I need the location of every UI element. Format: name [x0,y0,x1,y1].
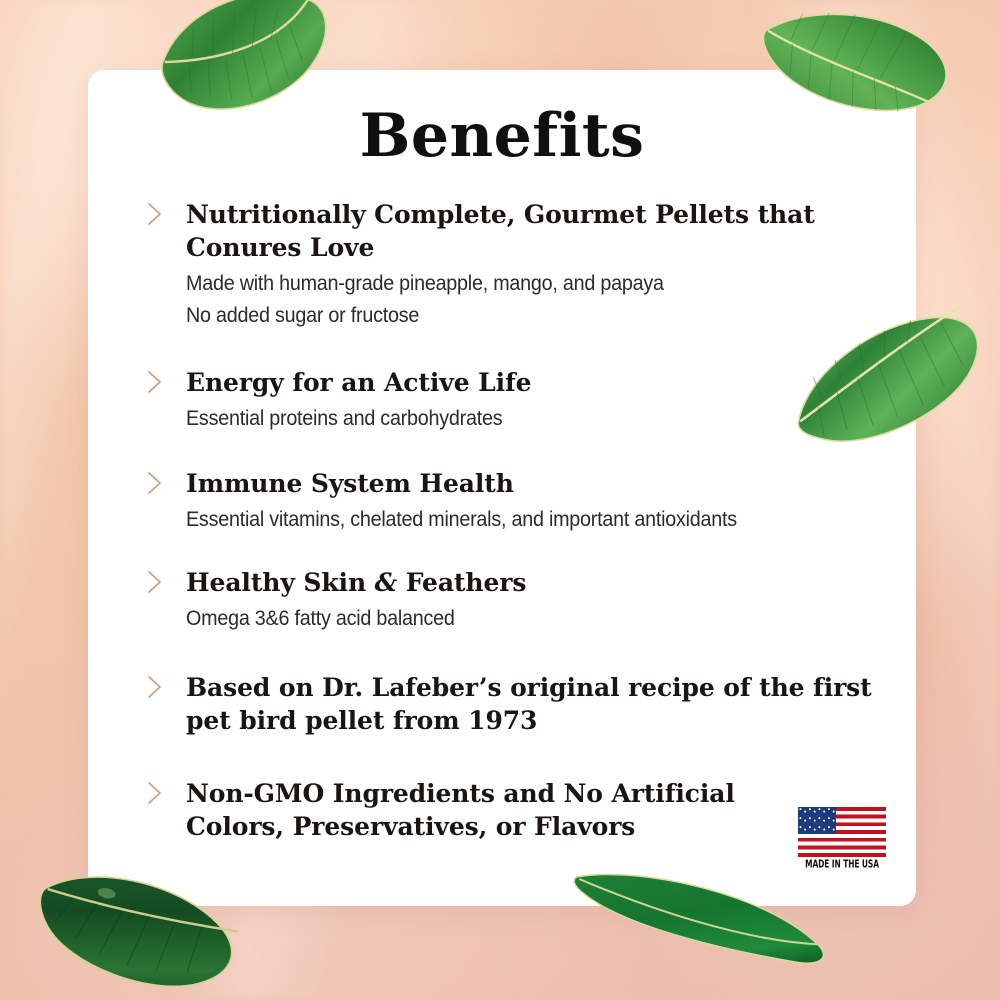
benefit-subtext: No added sugar or fructose [186,300,855,332]
leaf-top-right [755,0,970,127]
benefit-item: Immune System Health Essential vitamins,… [138,467,898,536]
leaf-bottom-left [30,862,245,1000]
benefit-title: Based on Dr. Lafeber’s original recipe o… [186,671,886,737]
benefit-title-part: Healthy Skin [186,568,375,597]
benefit-title: Nutritionally Complete, Gourmet Pellets … [186,198,898,264]
benefit-subtext: Made with human-grade pineapple, mango, … [186,268,855,300]
benefit-subtext: Essential vitamins, chelated minerals, a… [186,504,855,536]
benefit-item: Non-GMO Ingredients and No Artificial Co… [138,777,898,843]
benefit-title-part: Feathers [397,568,526,597]
benefit-subtext: Omega 3&6 fatty acid balanced [186,603,855,635]
made-in-usa-badge: MADE IN THE USA [796,807,888,870]
benefits-list: Nutritionally Complete, Gourmet Pellets … [138,198,898,869]
flag-stars [798,807,836,834]
benefit-title: Immune System Health [186,467,898,500]
chevron-right-icon [144,369,166,395]
benefit-title: Healthy Skin & Feathers [186,566,898,599]
chevron-right-icon [144,674,166,700]
benefit-title: Non-GMO Ingredients and No Artificial Co… [186,777,786,843]
usa-flag-icon [798,807,886,857]
chevron-right-icon [144,201,166,227]
benefit-subtext: Essential proteins and carbohydrates [186,403,855,435]
leaf-bottom-center [565,888,835,1000]
chevron-right-icon [144,569,166,595]
made-in-usa-label: MADE IN THE USA [802,859,883,872]
benefit-item: Healthy Skin & Feathers Omega 3&6 fatty … [138,566,898,635]
chevron-right-icon [144,780,166,806]
leaf-right-middle [780,305,1000,455]
benefit-item: Based on Dr. Lafeber’s original recipe o… [138,671,898,737]
benefits-card: Benefits Nutritionally Complete, Gourmet… [88,70,916,906]
leaf-top-left [150,0,345,132]
promo-graphic: Benefits Nutritionally Complete, Gourmet… [0,0,1000,1000]
ampersand-glyph: & [375,568,397,597]
chevron-right-icon [144,470,166,496]
